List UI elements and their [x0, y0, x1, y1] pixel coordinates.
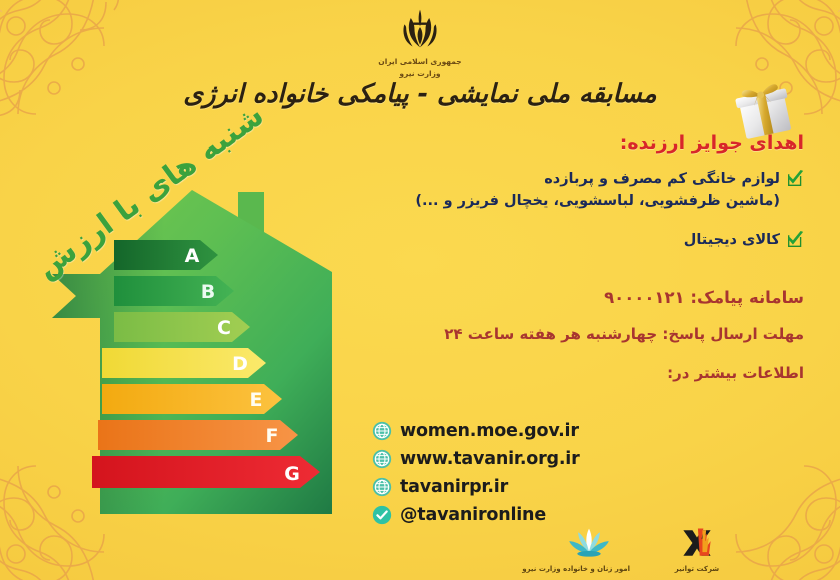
prize-item-1-line2: (ماشین ظرفشویی، لباسشویی، یخچال فریزر و …	[415, 190, 780, 212]
header-emblem-block: جمهوری اسلامی ایران وزارت نیرو	[360, 6, 480, 80]
emblem-subtitle-line1: جمهوری اسلامی ایران	[360, 57, 480, 68]
svg-text:F: F	[266, 425, 279, 447]
grade-bar-C: C	[114, 312, 250, 342]
energy-house-graphic: A B C D E F G	[42, 182, 342, 527]
grade-bar-G: G	[92, 456, 320, 488]
prizes-heading: اهدای جوایز ارزنده:	[384, 132, 804, 154]
lotus-flower-logo	[562, 523, 616, 563]
globe-icon	[372, 421, 392, 441]
check-mark-icon	[787, 170, 804, 187]
check-mark-icon	[787, 231, 804, 248]
svg-text:D: D	[232, 353, 248, 375]
footer-logo-tavanir-caption: شرکت توانیر	[656, 565, 738, 574]
grade-bar-D: D	[102, 348, 266, 378]
svg-text:E: E	[250, 389, 263, 411]
grade-bar-F: F	[98, 420, 298, 450]
right-content-column: اهدای جوایز ارزنده: لوازم خانگی کم مصرف …	[384, 132, 804, 382]
grade-bar-E: E	[102, 384, 282, 414]
prize-item-1: لوازم خانگی کم مصرف و پربازده (ماشین ظرف…	[384, 168, 804, 213]
svg-text:A: A	[185, 245, 200, 267]
globe-icon	[372, 477, 392, 497]
prize-item-2-line1: کالای دیجیتال	[684, 232, 780, 248]
page-title: مسابقه ملی نمایشی - پیامکی خانواده انرژی	[0, 79, 840, 109]
links-list: women.moe.gov.ir www.tavanir.org.ir tava…	[372, 417, 672, 529]
footer-logo-women-family-caption: امور زنان و خانواده وزارت نیرو	[548, 565, 630, 574]
link-text-tavanirpr[interactable]: tavanirpr.ir	[400, 477, 508, 497]
svg-text:B: B	[201, 281, 215, 303]
link-text-telegram[interactable]: @tavanironline	[400, 505, 546, 525]
prize-item-2-text: کالای دیجیتال	[684, 229, 780, 251]
tavanir-logo	[674, 523, 720, 563]
footer-logo-women-family: امور زنان و خانواده وزارت نیرو	[548, 523, 630, 574]
grade-bar-B: B	[114, 276, 234, 306]
link-row-tavanir-org[interactable]: www.tavanir.org.ir	[372, 445, 672, 473]
prize-item-2: کالای دیجیتال	[384, 229, 804, 251]
link-row-women-moe[interactable]: women.moe.gov.ir	[372, 417, 672, 445]
footer-logos: امور زنان و خانواده وزارت نیرو شرکت توان…	[548, 523, 748, 574]
more-info-label: اطلاعات بیشتر در:	[384, 364, 804, 382]
sms-system-line: سامانه پیامک: ۹۰۰۰۰۱۲۱	[384, 288, 804, 307]
link-text-tavanir-org[interactable]: www.tavanir.org.ir	[400, 449, 580, 469]
link-row-tavanirpr[interactable]: tavanirpr.ir	[372, 473, 672, 501]
prize-item-1-text: لوازم خانگی کم مصرف و پربازده (ماشین ظرف…	[415, 168, 780, 213]
link-text-women-moe[interactable]: women.moe.gov.ir	[400, 421, 579, 441]
prize-item-1-line1: لوازم خانگی کم مصرف و پربازده	[544, 171, 780, 187]
footer-logo-tavanir: شرکت توانیر	[656, 523, 738, 574]
poster-canvas: جمهوری اسلامی ایران وزارت نیرو مسابقه مل…	[0, 0, 840, 580]
globe-icon	[372, 449, 392, 469]
svg-text:C: C	[217, 317, 231, 339]
grade-bar-A: A	[114, 240, 218, 270]
deadline-line: مهلت ارسال پاسخ: چهارشنبه هر هفته ساعت ۲…	[384, 325, 804, 343]
iran-emblem-icon	[397, 6, 443, 52]
svg-text:G: G	[284, 463, 300, 485]
telegram-check-icon	[372, 505, 392, 525]
